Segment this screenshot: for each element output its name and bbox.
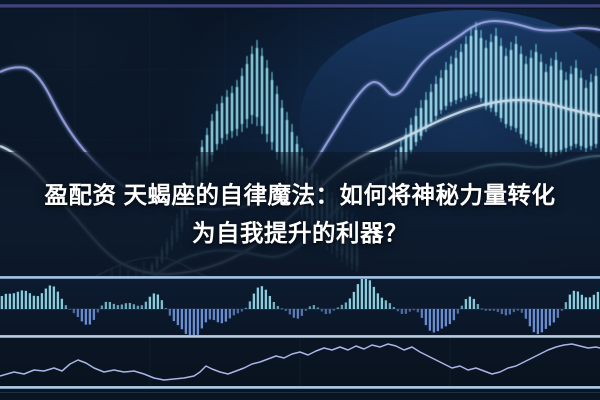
macd-svg <box>0 279 600 336</box>
bottom-footer-band <box>0 389 600 400</box>
headline-scrim <box>0 152 600 276</box>
bottom-separator <box>0 386 600 389</box>
macd-bottom-separator <box>0 335 600 338</box>
indicator-line-svg <box>0 338 600 387</box>
banner-image: 盈配资 天蝎座的自律魔法：如何将神秘力量转化 为自我提升的利器？ <box>0 0 600 400</box>
bottom-thin-rule <box>0 392 600 393</box>
indicator-line-panel <box>0 338 600 387</box>
macd-histogram-panel <box>0 279 600 336</box>
macd-top-separator <box>0 276 600 279</box>
indicator-grid <box>150 338 450 387</box>
macd-bars <box>1 279 599 336</box>
top-thin-rule <box>0 8 600 9</box>
